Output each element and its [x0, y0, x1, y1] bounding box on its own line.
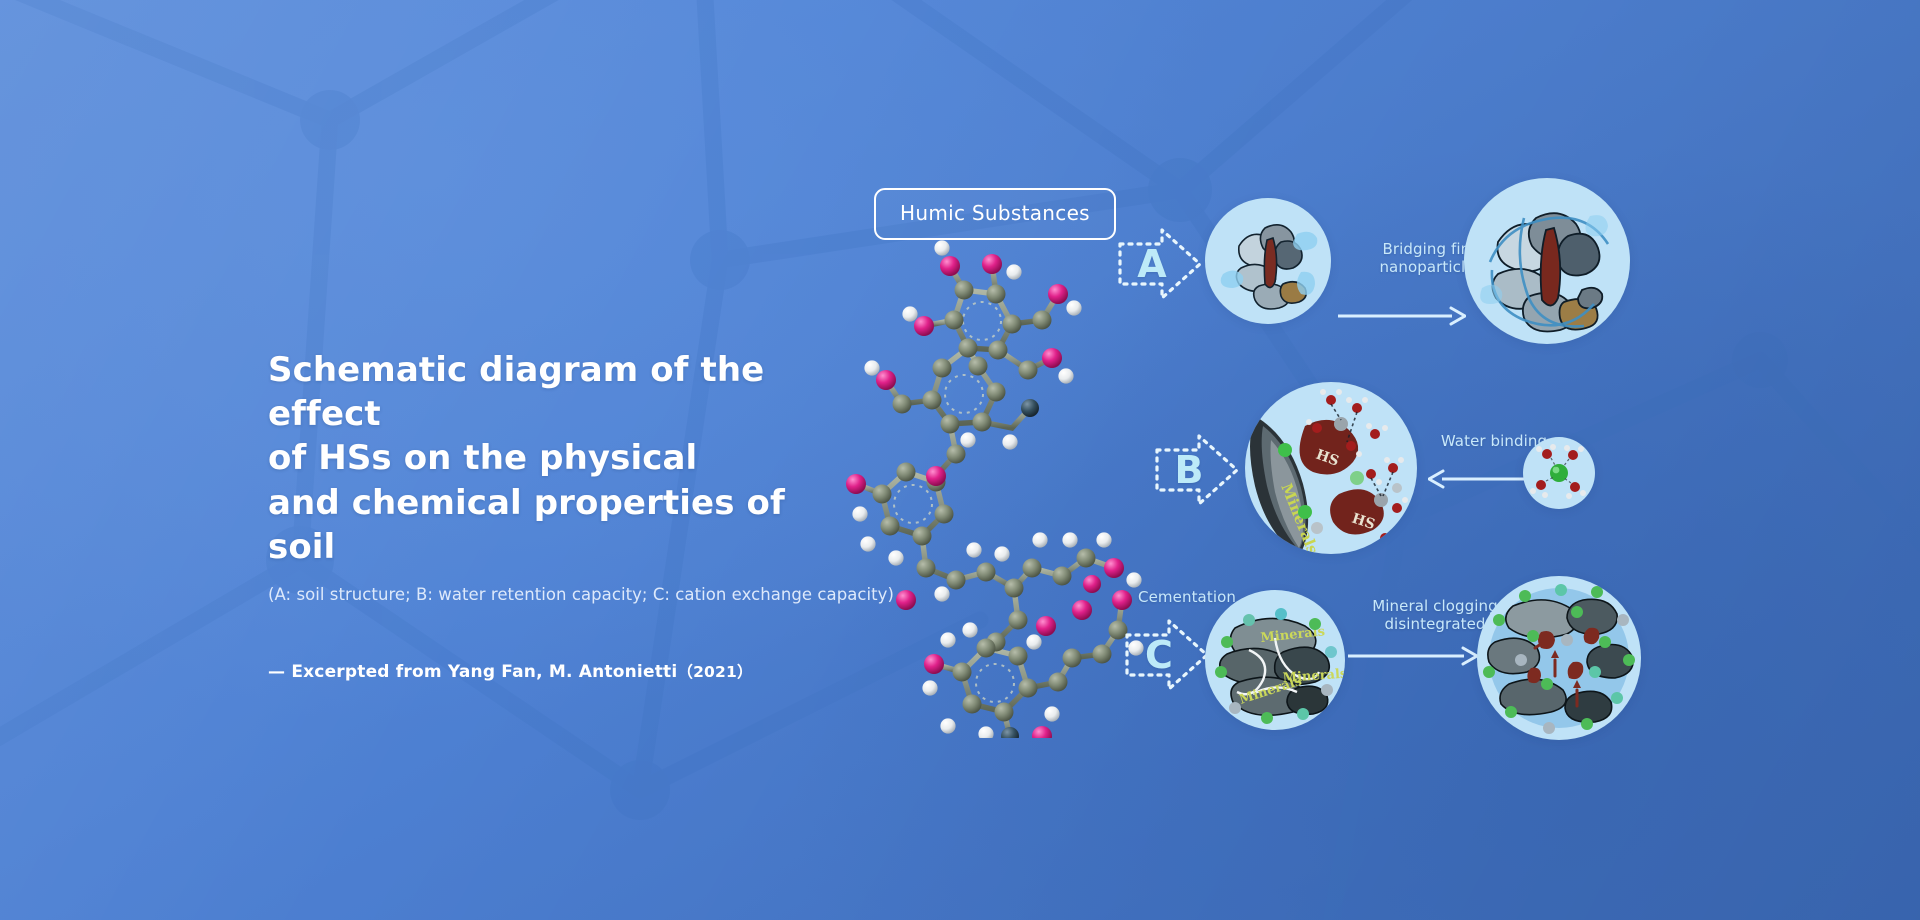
panel-hs-mineral-water-shell: Minerals HS HS	[1245, 382, 1417, 554]
attribution-text: — Excerpted from Yang Fan, M. Antonietti	[268, 662, 677, 682]
headline-line-2: of HSs on the physical	[268, 436, 828, 480]
headline-line-1: Schematic diagram of the effect	[268, 348, 828, 436]
panel-hydrated-cation	[1523, 437, 1595, 509]
attribution-year: （2021）	[677, 663, 752, 681]
humic-substances-label-text: Humic Substances	[900, 201, 1090, 225]
step-arrow-a-letter: A	[1116, 226, 1188, 302]
page-title: Schematic diagram of the effect of HSs o…	[268, 348, 828, 569]
flow-arrow-c	[1348, 645, 1478, 667]
humic-substance-molecule-model	[846, 228, 1166, 738]
step-arrow-b-letter: B	[1153, 432, 1225, 508]
panel-cemented-mineral-cluster: Minerals Minerals Minerals	[1205, 590, 1345, 730]
step-arrow-b: B	[1153, 432, 1241, 508]
attribution: — Excerpted from Yang Fan, M. Antonietti…	[268, 660, 828, 682]
flow-arrow-b	[1428, 468, 1524, 490]
poster-canvas: Schematic diagram of the effect of HSs o…	[0, 0, 1920, 920]
flow-arrow-a	[1338, 305, 1466, 327]
subtitle-legend: (A: soil structure; B: water retention c…	[268, 585, 828, 604]
step-arrow-a: A	[1116, 226, 1204, 302]
headline-line-3: and chemical properties of soil	[268, 481, 828, 569]
panel-disintegrated-mineral-cluster	[1477, 576, 1641, 740]
headline-block: Schematic diagram of the effect of HSs o…	[268, 348, 828, 682]
step-arrow-c-letter: C	[1123, 617, 1195, 693]
panel-soil-aggregate-bridged	[1464, 178, 1630, 344]
step-arrow-c: C	[1123, 617, 1211, 693]
panel-soil-aggregate-loose	[1205, 198, 1331, 324]
